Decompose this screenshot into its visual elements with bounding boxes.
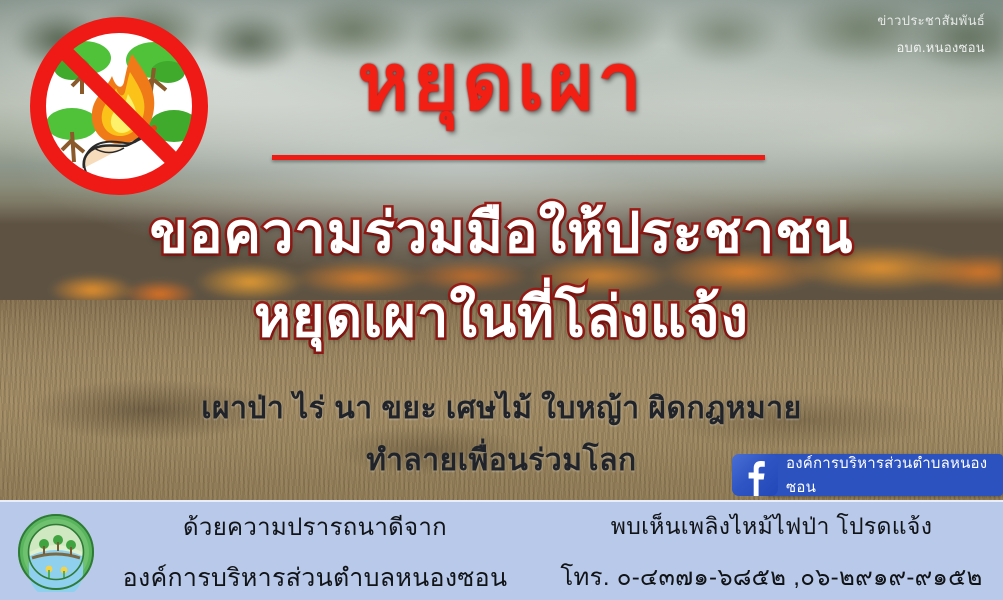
footer-goodwill-line: ด้วยความปรารถนาดีจาก <box>183 507 447 546</box>
footer-bar: ด้วยความปรารถนาดีจาก องค์การบริหารส่วนตำ… <box>0 500 1003 600</box>
main-message-line-2: หยุดเผาในที่โล่งแจ้ง <box>0 272 1003 361</box>
footer-left-block: ด้วยความปรารถนาดีจาก องค์การบริหารส่วนตำ… <box>100 502 530 600</box>
facebook-badge[interactable]: องค์การบริหารส่วนตำบลหนองซอน <box>732 454 1003 496</box>
footer-organization-name: องค์การบริหารส่วนตำบลหนองซอน <box>123 558 508 598</box>
poster-canvas: ข่าวประชาสัมพันธ์ อบต.หนองซอน หยุดเผา ขอ… <box>0 0 1003 600</box>
sub-message-line-1: เผาป่า ไร่ นา ขยะ เศษไม้ ใบหญ้า ผิดกฎหมา… <box>0 385 1003 432</box>
footer-report-fire-line: พบเห็นเพลิงไหม้ไฟป่า โปรดแจ้ง <box>611 509 932 545</box>
footer-right-block: พบเห็นเพลิงไหม้ไฟป่า โปรดแจ้ง โทร. ๐-๔๓๗… <box>540 502 1003 600</box>
page-title: หยุดเผา <box>0 20 1003 144</box>
red-divider <box>272 155 765 160</box>
footer-phone-number: โทร. ๐-๔๓๗๑-๖๘๕๒ ,๐๖-๒๙๑๙-๙๑๕๒ <box>560 557 982 596</box>
municipal-seal-icon <box>14 512 98 592</box>
main-message-line-1: ขอความร่วมมือให้ประชาชน <box>0 188 1003 277</box>
facebook-page-name[interactable]: องค์การบริหารส่วนตำบลหนองซอน <box>766 454 1003 496</box>
facebook-icon[interactable] <box>732 454 778 496</box>
